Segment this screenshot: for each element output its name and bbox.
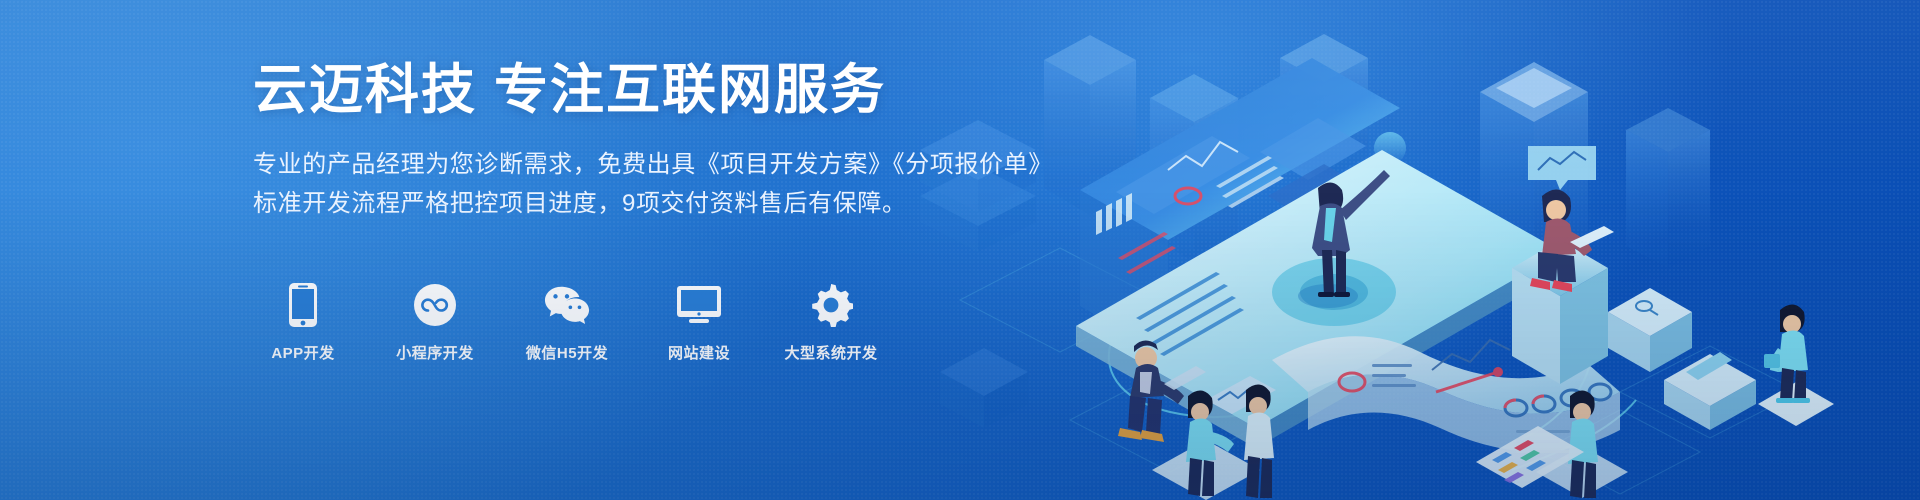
gear-icon <box>808 282 854 328</box>
mobile-phone-icon <box>280 282 326 328</box>
page-title: 云迈科技 专注互联网服务 <box>253 60 1093 120</box>
search-block-icon <box>1608 288 1692 372</box>
mini-program-icon <box>412 282 458 328</box>
service-label: 小程序开发 <box>396 342 474 363</box>
wechat-icon <box>544 282 590 328</box>
subtitle-line-1: 专业的产品经理为您诊断需求，免费出具《项目开发方案》《分项报价单》 <box>253 146 1093 185</box>
service-label: 网站建设 <box>668 342 730 363</box>
promo-banner: 云迈科技 专注互联网服务 专业的产品经理为您诊断需求，免费出具《项目开发方案》《… <box>0 0 1920 500</box>
banner-copy: 云迈科技 专注互联网服务 专业的产品经理为您诊断需求，免费出具《项目开发方案》《… <box>253 60 1093 224</box>
monitor-icon <box>676 282 722 328</box>
service-list: APP开发 小程序开发 微信 <box>253 282 881 363</box>
service-item-large-system[interactable]: 大型系统开发 <box>781 282 881 363</box>
service-label: 大型系统开发 <box>784 342 877 363</box>
subtitle-line-2: 标准开发流程严格把控项目进度，9项交付资料售后有保障。 <box>253 185 1093 224</box>
service-label: APP开发 <box>271 342 334 363</box>
service-item-wechat-h5[interactable]: 微信H5开发 <box>517 282 617 363</box>
walking-person-briefcase <box>1758 304 1834 426</box>
service-item-website[interactable]: 网站建设 <box>649 282 749 363</box>
service-item-app[interactable]: APP开发 <box>253 282 353 363</box>
device-block <box>1664 352 1756 430</box>
service-item-mini-program[interactable]: 小程序开发 <box>385 282 485 363</box>
service-label: 微信H5开发 <box>526 342 608 363</box>
